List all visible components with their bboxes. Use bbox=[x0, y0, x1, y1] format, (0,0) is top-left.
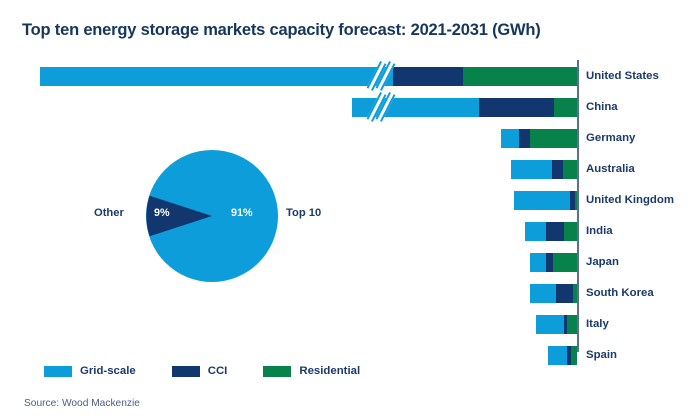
table-row: Australia bbox=[0, 155, 700, 185]
legend-item-residential[interactable]: Residential bbox=[263, 365, 360, 377]
legend-label: CCI bbox=[208, 365, 228, 377]
bar-italy[interactable] bbox=[536, 315, 577, 334]
table-row: United States bbox=[0, 62, 700, 92]
bar-segment-residential bbox=[530, 129, 577, 148]
pie-label-other: Other bbox=[94, 207, 124, 219]
pie-chart: Other Top 10 9% 91% bbox=[146, 150, 278, 282]
bar-label-spain: Spain bbox=[586, 349, 617, 361]
bar-segment-grid-scale bbox=[511, 160, 552, 179]
bar-south-korea[interactable] bbox=[530, 284, 577, 303]
bar-label-china: China bbox=[586, 101, 618, 113]
table-row: Germany bbox=[0, 124, 700, 154]
bar-segment-cci bbox=[479, 98, 554, 117]
bar-segment-cci bbox=[519, 129, 530, 148]
bar-segment-cci bbox=[546, 253, 553, 272]
table-row: South Korea bbox=[0, 279, 700, 309]
bar-label-australia: Australia bbox=[586, 163, 635, 175]
table-row: India bbox=[0, 217, 700, 247]
bar-segment-grid-scale bbox=[536, 315, 564, 334]
bar-segment-cci bbox=[546, 222, 564, 241]
pie-label-top10: Top 10 bbox=[286, 207, 321, 219]
bar-segment-cci bbox=[556, 284, 573, 303]
bar-segment-cci bbox=[552, 160, 563, 179]
chart-page: Top ten energy storage markets capacity … bbox=[0, 0, 700, 420]
bar-australia[interactable] bbox=[511, 160, 577, 179]
table-row: Japan bbox=[0, 248, 700, 278]
bar-label-united-kingdom: United Kingdom bbox=[586, 194, 674, 206]
pie-value-other: 9% bbox=[154, 207, 170, 219]
bar-segment-grid-scale bbox=[501, 129, 519, 148]
bar-china[interactable] bbox=[352, 98, 577, 117]
bar-segment-residential bbox=[463, 67, 577, 86]
bar-chart: United States China Germany bbox=[0, 58, 700, 353]
bar-segment-residential bbox=[573, 284, 577, 303]
bar-segment-grid-scale bbox=[40, 67, 393, 86]
bar-segment-grid-scale bbox=[525, 222, 546, 241]
bar-segment-grid-scale bbox=[352, 98, 479, 117]
bar-segment-residential bbox=[567, 315, 577, 334]
bar-label-india: India bbox=[586, 225, 613, 237]
bar-label-germany: Germany bbox=[586, 132, 635, 144]
bar-segment-grid-scale bbox=[530, 284, 556, 303]
bar-label-italy: Italy bbox=[586, 318, 609, 330]
legend-swatch-icon bbox=[44, 366, 72, 377]
bar-india[interactable] bbox=[525, 222, 577, 241]
legend-swatch-icon bbox=[172, 366, 200, 377]
bar-segment-residential bbox=[554, 98, 577, 117]
bar-segment-grid-scale bbox=[514, 191, 570, 210]
bar-segment-grid-scale bbox=[530, 253, 546, 272]
legend-item-grid-scale[interactable]: Grid-scale bbox=[44, 365, 136, 377]
bar-label-japan: Japan bbox=[586, 256, 619, 268]
bar-segment-grid-scale bbox=[548, 346, 567, 365]
bar-united-kingdom[interactable] bbox=[514, 191, 577, 210]
chart-legend: Grid-scale CCI Residential bbox=[44, 363, 396, 379]
bar-spain[interactable] bbox=[548, 346, 577, 365]
table-row: China bbox=[0, 93, 700, 123]
bar-united-states[interactable] bbox=[40, 67, 577, 86]
source-note: Source: Wood Mackenzie bbox=[24, 398, 140, 409]
legend-item-cci[interactable]: CCI bbox=[172, 365, 228, 377]
bar-segment-cci bbox=[393, 67, 463, 86]
bar-segment-residential bbox=[553, 253, 577, 272]
bar-label-south-korea: South Korea bbox=[586, 287, 654, 299]
bar-segment-residential bbox=[564, 222, 577, 241]
legend-label: Grid-scale bbox=[80, 365, 136, 377]
bar-segment-residential bbox=[571, 346, 577, 365]
page-title: Top ten energy storage markets capacity … bbox=[22, 21, 541, 40]
bar-segment-residential bbox=[563, 160, 577, 179]
legend-label: Residential bbox=[299, 365, 360, 377]
pie-value-top10: 91% bbox=[231, 207, 253, 219]
table-row: Italy bbox=[0, 310, 700, 340]
legend-swatch-icon bbox=[263, 366, 291, 377]
bar-japan[interactable] bbox=[530, 253, 577, 272]
bar-germany[interactable] bbox=[501, 129, 577, 148]
bar-segment-residential bbox=[575, 191, 577, 210]
bar-label-united-states: United States bbox=[586, 70, 659, 82]
